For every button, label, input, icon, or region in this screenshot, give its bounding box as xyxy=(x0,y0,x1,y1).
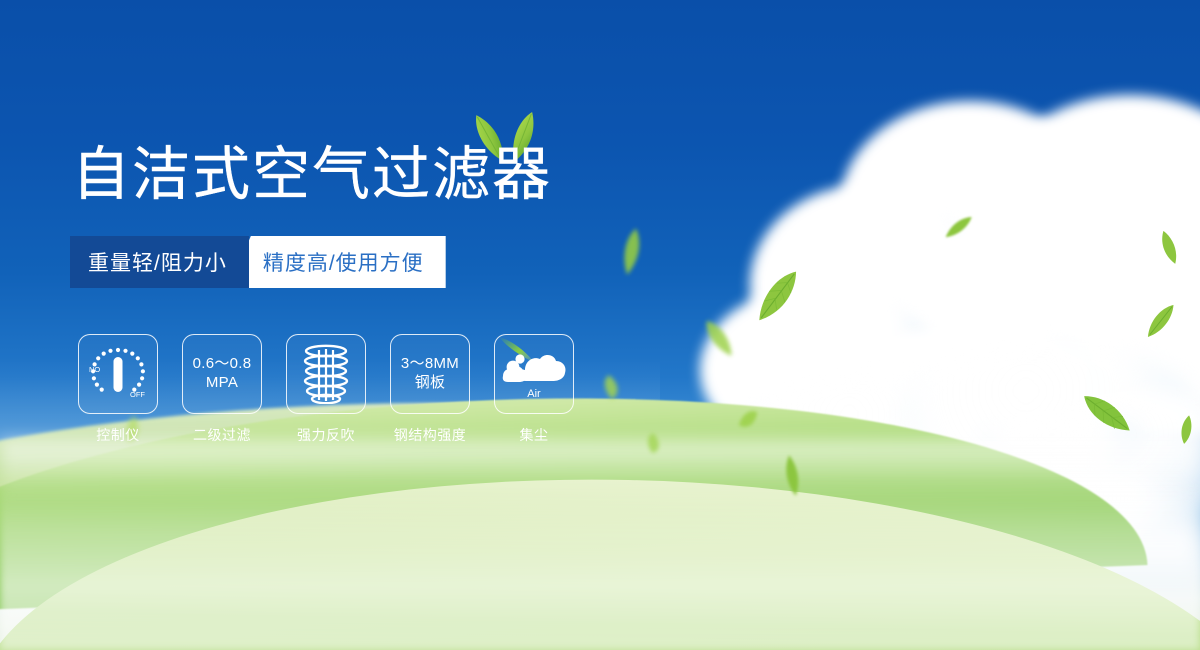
feature-label-dust: 集尘 xyxy=(520,425,549,445)
svg-text:NO: NO xyxy=(89,365,100,374)
feature-box-dust: Air xyxy=(494,334,574,414)
svg-text:OFF: OFF xyxy=(130,390,145,399)
pressure-unit-text: MPA xyxy=(206,374,238,393)
feature-label-steel: 钢结构强度 xyxy=(394,425,467,445)
page-title: 自洁式空气过滤器 xyxy=(72,146,552,204)
feature-item-controller[interactable]: NO OFF 控制仪 xyxy=(78,334,158,445)
tagline-bar: 重量轻/阻力小 精度高/使用方便 xyxy=(70,236,446,288)
tagline-left: 重量轻/阻力小 xyxy=(70,236,249,288)
banner-content: 自洁式空气过滤器 重量轻/阻力小 精度高/使用方便 xyxy=(0,0,1200,650)
feature-box-blowback xyxy=(286,334,366,414)
air-cloud-icon: Air xyxy=(495,335,573,413)
coil-filter-icon xyxy=(297,344,355,404)
product-banner: 自洁式空气过滤器 重量轻/阻力小 精度高/使用方便 xyxy=(0,0,1200,650)
feature-item-dust[interactable]: Air 集尘 xyxy=(494,334,574,445)
feature-item-blowback[interactable]: 强力反吹 xyxy=(286,334,366,445)
feature-label-controller: 控制仪 xyxy=(96,425,140,445)
feature-box-controller: NO OFF xyxy=(78,334,158,414)
feature-item-filtration[interactable]: 0.6～0.8 MPA 二级过滤 xyxy=(182,334,262,445)
feature-box-steel: 3～8MM 钢板 xyxy=(390,334,470,414)
air-text: Air xyxy=(527,388,541,400)
gauge-icon: NO OFF xyxy=(87,345,149,403)
steel-plate-text: 钢板 xyxy=(415,374,446,393)
tagline-right: 精度高/使用方便 xyxy=(229,236,446,288)
feature-box-filtration: 0.6～0.8 MPA xyxy=(182,334,262,414)
pressure-range-text: 0.6～0.8 xyxy=(193,355,252,374)
feature-item-steel[interactable]: 3～8MM 钢板 钢结构强度 xyxy=(390,334,470,445)
feature-label-filtration: 二级过滤 xyxy=(193,425,251,445)
feature-label-blowback: 强力反吹 xyxy=(297,425,355,445)
steel-thickness-text: 3～8MM xyxy=(401,355,459,374)
feature-list: NO OFF 控制仪 0.6～0.8 MPA 二级过滤 xyxy=(78,334,574,445)
